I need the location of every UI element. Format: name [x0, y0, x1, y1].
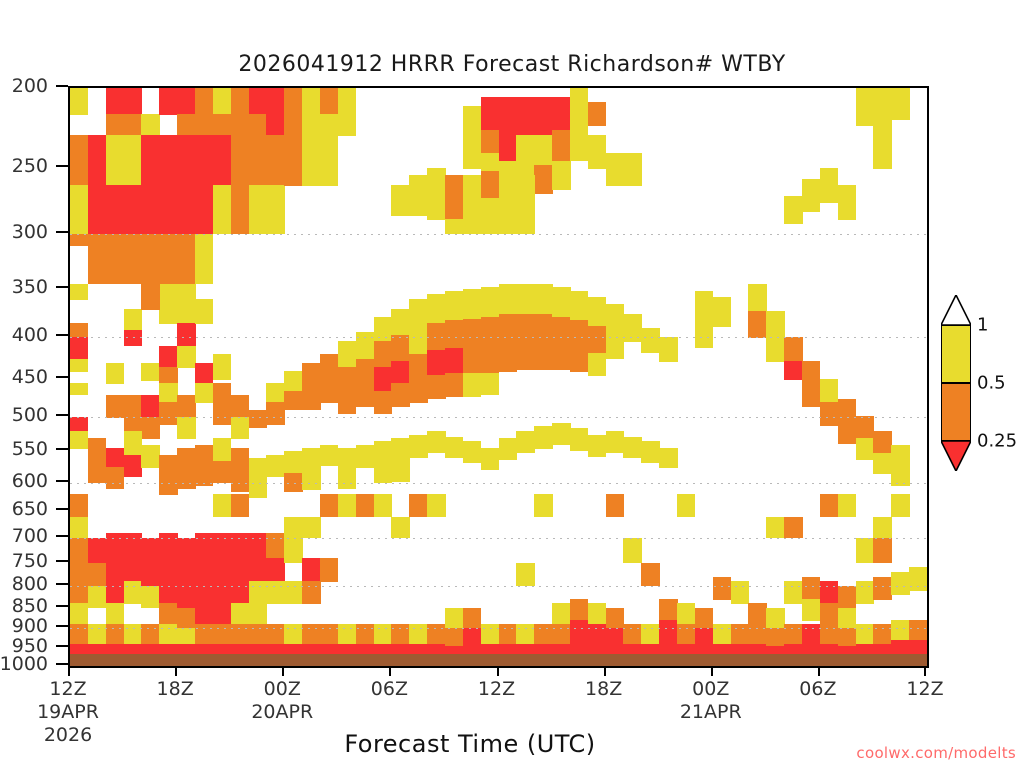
y-tick-label: 700 — [12, 525, 48, 547]
y-tick-mark — [56, 560, 68, 562]
x-tick-time-label: 18Z — [157, 678, 194, 700]
y-tick-label: 200 — [12, 75, 48, 97]
colorbar-segment — [941, 383, 971, 441]
y-tick-label: 850 — [12, 595, 48, 617]
colorbar-tick-label: 0.25 — [977, 431, 1017, 452]
x-tick-time-label: 00Z — [692, 678, 729, 700]
y-tick-mark — [56, 231, 68, 233]
y-tick-mark — [56, 85, 68, 87]
colorbar-under-arrow — [941, 441, 971, 471]
x-tick-mark — [924, 668, 926, 676]
terrain-band — [70, 654, 927, 668]
colorbar-legend: 10.50.25 — [941, 295, 975, 470]
y-tick-mark — [56, 625, 68, 627]
y-tick-label: 400 — [12, 324, 48, 346]
y-tick-mark — [56, 448, 68, 450]
y-tick-mark — [56, 376, 68, 378]
y-tick-label: 550 — [12, 438, 48, 460]
x-tick-mark — [497, 668, 499, 676]
plot-area — [68, 86, 929, 668]
y-tick-mark — [56, 334, 68, 336]
y-axis: 2002503003504004505005506006507007508008… — [0, 86, 62, 668]
x-tick-mark — [282, 668, 284, 676]
y-tick-label: 350 — [12, 276, 48, 298]
y-tick-label: 300 — [12, 221, 48, 243]
y-tick-mark — [56, 480, 68, 482]
x-tick-time-label: 06Z — [371, 678, 408, 700]
y-tick-label: 750 — [12, 550, 48, 572]
x-tick-mark — [68, 668, 70, 676]
y-tick-label: 650 — [12, 498, 48, 520]
colorbar-segment — [941, 325, 971, 383]
y-tick-mark — [56, 286, 68, 288]
x-tick-mark — [175, 668, 177, 676]
gridline — [70, 666, 927, 667]
x-tick-mark — [711, 668, 713, 676]
x-tick-time-label: 06Z — [799, 678, 836, 700]
x-tick-time-label: 12Z — [478, 678, 515, 700]
x-tick-time-label: 00Z — [264, 678, 301, 700]
credit-watermark: coolwx.com/modelts — [856, 744, 1016, 762]
y-tick-label: 250 — [12, 155, 48, 177]
x-axis-label: Forecast Time (UTC) — [0, 730, 940, 758]
chart-title: 2026041912 HRRR Forecast Richardson# WTB… — [0, 52, 1024, 77]
chart-root: 2026041912 HRRR Forecast Richardson# WTB… — [0, 0, 1024, 768]
y-tick-mark — [56, 535, 68, 537]
colorbar-over-arrow — [941, 295, 971, 325]
y-tick-mark — [56, 165, 68, 167]
x-tick-date-label: 20APR — [251, 701, 313, 723]
x-tick-date-label: 19APR — [37, 701, 99, 723]
y-tick-label: 600 — [12, 470, 48, 492]
x-tick-time-label: 12Z — [906, 678, 943, 700]
y-tick-mark — [56, 508, 68, 510]
colorbar-tick-label: 0.5 — [977, 373, 1006, 394]
y-tick-label: 450 — [12, 366, 48, 388]
y-tick-mark — [56, 645, 68, 647]
colorbar-tick-label: 1 — [977, 315, 988, 336]
y-tick-mark — [56, 605, 68, 607]
x-tick-time-label: 12Z — [49, 678, 86, 700]
y-tick-label: 1000 — [0, 653, 48, 675]
y-tick-label: 800 — [12, 573, 48, 595]
x-tick-date-label: 21APR — [680, 701, 742, 723]
x-tick-mark — [389, 668, 391, 676]
x-tick-mark — [818, 668, 820, 676]
y-tick-label: 500 — [12, 404, 48, 426]
y-tick-mark — [56, 663, 68, 665]
surface-terrain — [70, 88, 927, 666]
y-tick-mark — [56, 414, 68, 416]
y-tick-mark — [56, 583, 68, 585]
x-tick-time-label: 18Z — [585, 678, 622, 700]
x-tick-mark — [604, 668, 606, 676]
